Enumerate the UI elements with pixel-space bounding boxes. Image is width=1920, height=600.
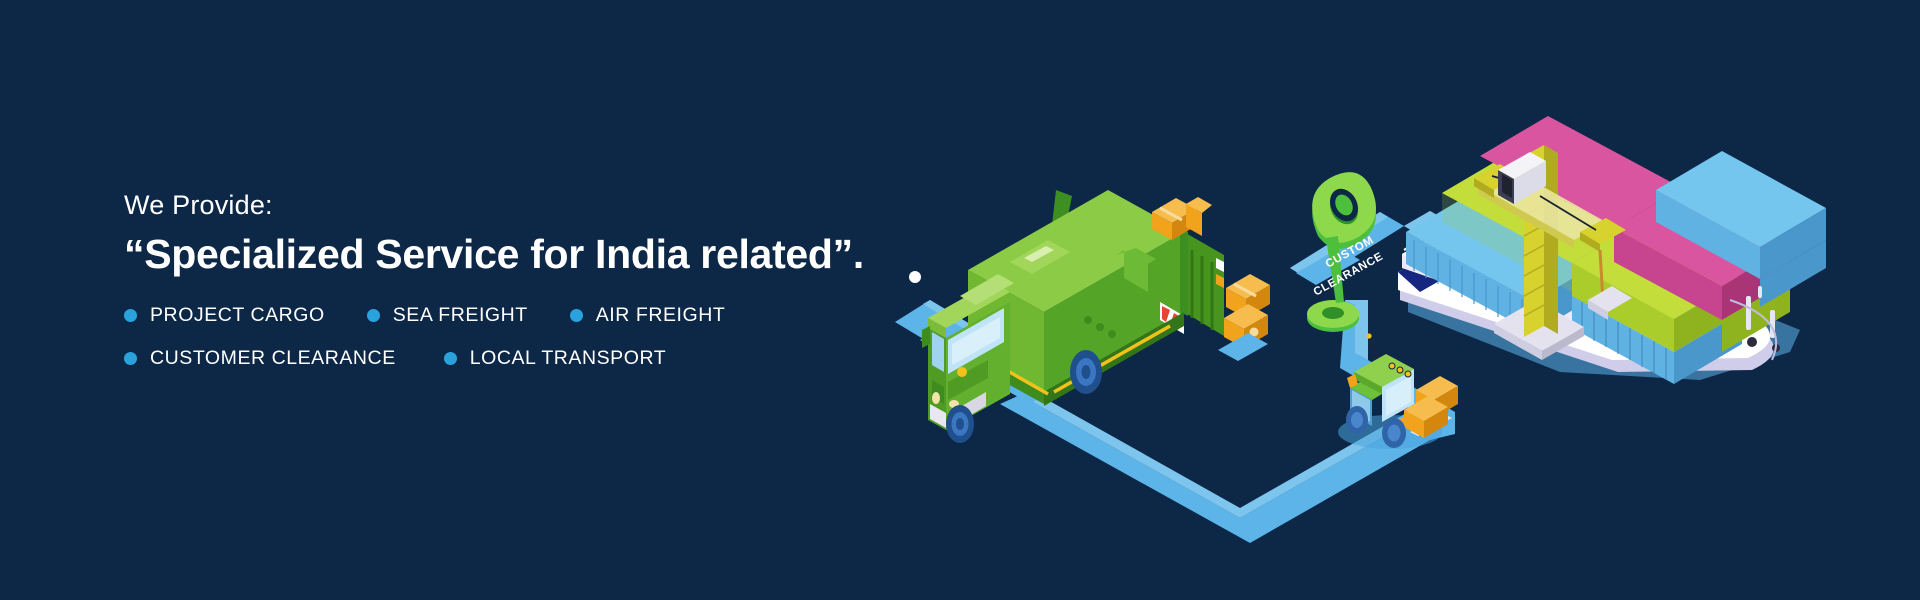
service-item-local-transport[interactable]: LOCAL TRANSPORT [444, 347, 666, 370]
service-item-air-freight[interactable]: AIR FREIGHT [570, 304, 726, 327]
service-item-sea-freight[interactable]: SEA FREIGHT [367, 304, 528, 327]
service-label: SEA FREIGHT [393, 304, 528, 327]
services-list: PROJECT CARGO SEA FREIGHT AIR FREIGHT CU… [124, 304, 984, 370]
logistics-hero-banner: CUSTOM CLEARANCE [0, 0, 1920, 600]
service-label: AIR FREIGHT [596, 304, 726, 327]
bullet-dot-icon [124, 352, 137, 365]
service-item-project-cargo[interactable]: PROJECT CARGO [124, 304, 325, 327]
services-row-2: CUSTOMER CLEARANCE LOCAL TRANSPORT [124, 347, 984, 370]
hero-copy-block: We Provide: “Specialized Service for Ind… [124, 190, 984, 370]
bullet-dot-icon [124, 309, 137, 322]
service-label: PROJECT CARGO [150, 304, 325, 327]
bullet-dot-icon [367, 309, 380, 322]
truck-wheel-rear [1070, 350, 1102, 394]
service-label: LOCAL TRANSPORT [470, 347, 666, 370]
service-item-customer-clearance[interactable]: CUSTOMER CLEARANCE [124, 347, 396, 370]
eyebrow-text: We Provide: [124, 190, 984, 221]
truck-wheel-front [946, 405, 974, 443]
page-title: “Specialized Service for India related”. [124, 231, 984, 278]
services-row-1: PROJECT CARGO SEA FREIGHT AIR FREIGHT [124, 304, 984, 327]
service-label: CUSTOMER CLEARANCE [150, 347, 396, 370]
bullet-dot-icon [444, 352, 457, 365]
bullet-dot-icon [570, 309, 583, 322]
